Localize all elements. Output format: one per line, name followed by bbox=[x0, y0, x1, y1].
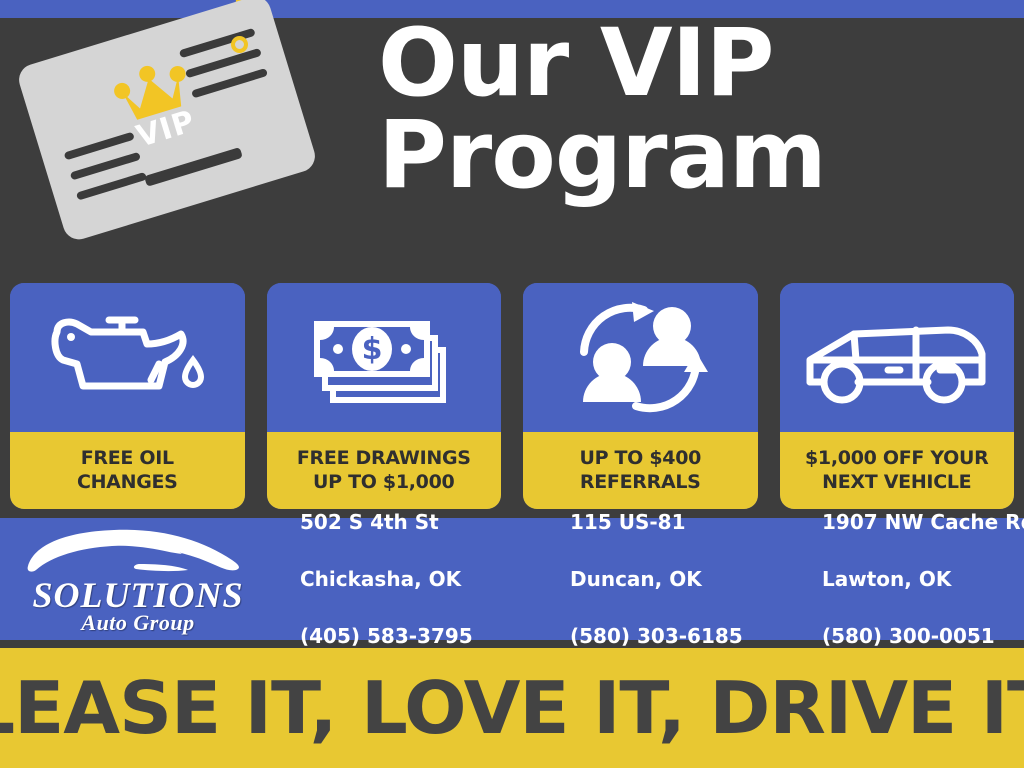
slogan-banner: LEASE IT, LOVE IT, DRIVE IT bbox=[0, 648, 1024, 768]
benefit-label: FREE OIL CHANGES bbox=[10, 432, 245, 509]
benefit-icon-container: $ bbox=[267, 283, 502, 432]
page-title-line-1: Our VIP bbox=[378, 18, 998, 110]
benefit-icon-container bbox=[780, 283, 1015, 432]
location-phone[interactable]: (405) 583-3795 bbox=[300, 622, 545, 650]
contact-bar: SOLUTIONS Auto Group 502 S 4th St Chicka… bbox=[0, 518, 1024, 640]
lanyard-ring-icon bbox=[231, 36, 248, 53]
benefit-card-free-drawings[interactable]: $ FREE DRAWINGS UP TO $1,000 bbox=[267, 283, 502, 509]
benefit-card-free-oil-changes[interactable]: FREE OIL CHANGES bbox=[10, 283, 245, 509]
svg-text:$: $ bbox=[361, 332, 382, 367]
location-city: Chickasha, OK bbox=[300, 565, 545, 593]
brand-logo[interactable]: SOLUTIONS Auto Group bbox=[0, 520, 268, 638]
brand-tagline: Auto Group bbox=[28, 610, 248, 636]
cash-stack-icon: $ bbox=[304, 303, 464, 413]
location-street: 115 US-81 bbox=[570, 508, 800, 536]
benefit-icon-container bbox=[10, 283, 245, 432]
page-title-line-2: Program bbox=[378, 110, 998, 202]
car-swoosh-icon bbox=[22, 526, 250, 578]
benefit-icon-container bbox=[523, 283, 758, 432]
oil-can-icon bbox=[47, 310, 207, 406]
referral-people-icon bbox=[570, 298, 710, 418]
car-icon bbox=[802, 308, 992, 408]
locations-list: 502 S 4th St Chickasha, OK (405) 583-379… bbox=[268, 518, 1024, 640]
slogan-text: LEASE IT, LOVE IT, DRIVE IT bbox=[0, 666, 1024, 750]
location-phone[interactable]: (580) 300-0051 bbox=[822, 622, 1024, 650]
benefit-card-referrals[interactable]: UP TO $400 REFERRALS bbox=[523, 283, 758, 509]
location-city: Lawton, OK bbox=[822, 565, 1024, 593]
location-street: 502 S 4th St bbox=[300, 508, 545, 536]
vip-program-poster: VIP Our VIP Program FREE OIL bbox=[0, 0, 1024, 768]
page-title: Our VIP Program bbox=[378, 18, 998, 202]
card-line-bottom bbox=[144, 147, 243, 187]
location-phone[interactable]: (580) 303-6185 bbox=[570, 622, 800, 650]
vip-card-graphic: VIP bbox=[15, 0, 319, 243]
benefits-row: FREE OIL CHANGES $ bbox=[10, 283, 1014, 509]
card-line-left-3 bbox=[76, 172, 147, 201]
benefit-card-vehicle-discount[interactable]: $1,000 OFF YOUR NEXT VEHICLE bbox=[780, 283, 1015, 509]
location-street: 1907 NW Cache Rd bbox=[822, 508, 1024, 536]
location-city: Duncan, OK bbox=[570, 565, 800, 593]
